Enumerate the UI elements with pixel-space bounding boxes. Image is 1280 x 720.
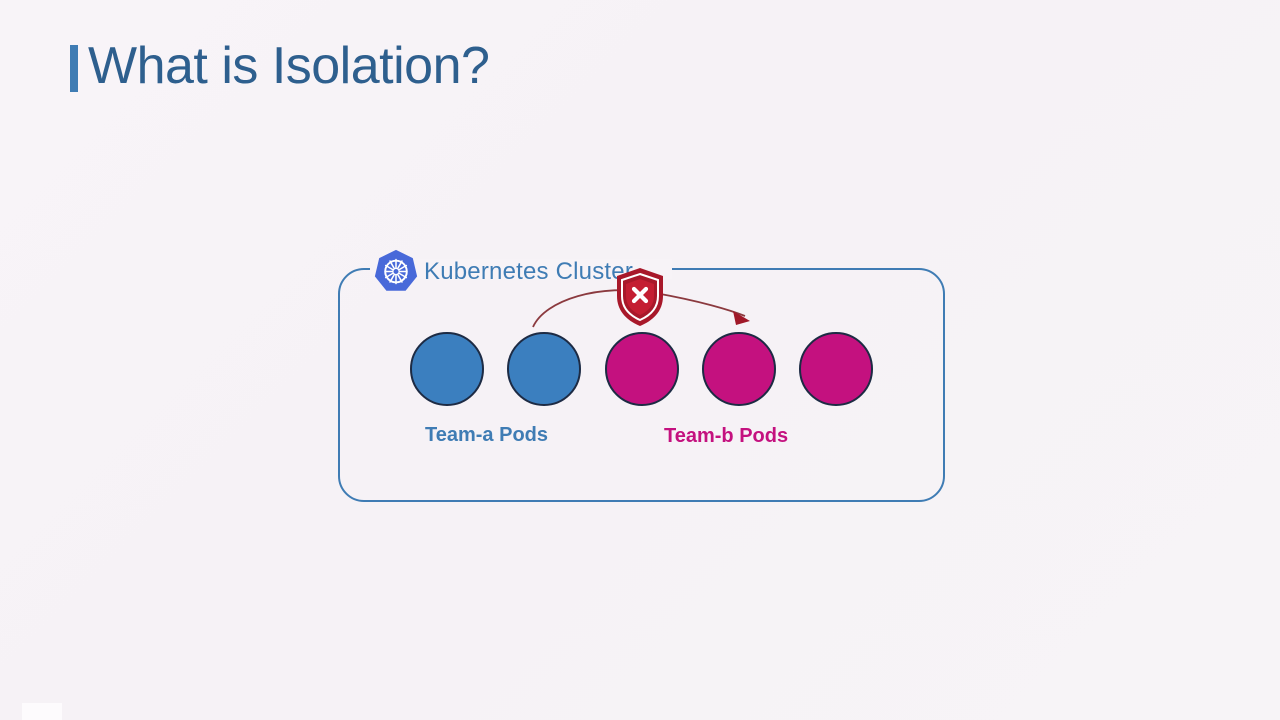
slide-canvas: What is Isolation? <box>0 0 1280 720</box>
pod-team-b-1 <box>605 332 679 406</box>
pod-team-b-3 <box>799 332 873 406</box>
team-a-pods-label: Team-a Pods <box>425 424 548 447</box>
pod-team-a-2 <box>507 332 581 406</box>
pod-team-a-1 <box>410 332 484 406</box>
page-title-text: What is Isolation? <box>88 40 489 92</box>
kubernetes-logo-icon <box>372 248 420 296</box>
cluster-label: Kubernetes Cluster <box>372 248 633 296</box>
page-title: What is Isolation? <box>70 40 489 92</box>
pod-team-b-2 <box>702 332 776 406</box>
team-b-pods-label: Team-b Pods <box>664 425 788 448</box>
footer-block <box>22 703 62 720</box>
cluster-label-text: Kubernetes Cluster <box>424 258 633 286</box>
title-accent-bar <box>70 45 78 92</box>
